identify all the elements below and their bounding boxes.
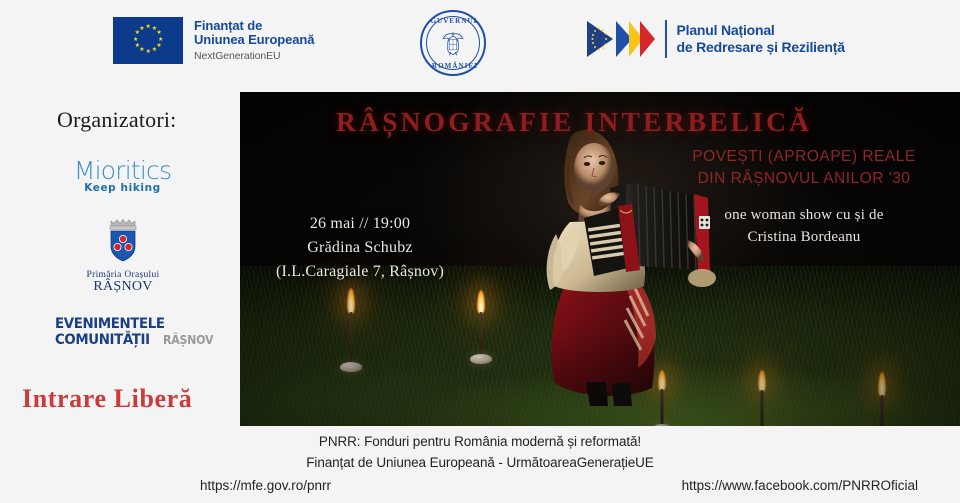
pnrr-logo: Planul Național de Redresare și Rezilien…: [585, 17, 845, 61]
poster-credit-line1: one woman show cu și de: [654, 204, 954, 226]
pnrr-text-line1: Planul Național: [677, 22, 845, 39]
event-address: (I.L.Caragiale 7, Râșnov): [250, 260, 470, 284]
candle-5: [868, 372, 896, 426]
eu-star-icon: [135, 44, 139, 48]
pnrr-footer: PNRR: Fonduri pentru România modernă și …: [0, 426, 960, 503]
logo-mioritics: Mioritics Keep hiking: [60, 156, 185, 194]
logo-primaria-rasnov: Primăria Orașului RÂȘNOV: [62, 216, 184, 295]
evenimente-line3: RÂȘNOV: [163, 333, 213, 347]
evenimente-line2: COMUNITĂȚII: [55, 332, 150, 348]
footer-line2: Finanțat de Uniunea Europeană - Următoar…: [0, 455, 960, 470]
seal-bottom-text: ROMÂNIEI: [422, 62, 488, 70]
eu-star-icon: [156, 31, 160, 35]
eu-star-icon: [158, 38, 162, 42]
poster-event-info: 26 mai // 19:00 Grădina Schubz (I.L.Cara…: [250, 212, 470, 284]
evenimente-line1: EVENIMENTELE: [55, 316, 193, 332]
candle-flame-icon: [758, 370, 766, 392]
free-admission-label: Intrare Liberă: [22, 384, 192, 414]
candle-flame-icon: [347, 288, 355, 314]
eu-star-icon: [139, 48, 143, 52]
candle-flame-icon: [477, 290, 485, 314]
pnrr-arrows-icon: [585, 17, 661, 61]
eu-text-line1: Finanțat de: [194, 19, 314, 34]
eu-star-icon: [135, 31, 139, 35]
eu-star-icon: [133, 38, 137, 42]
eu-star-icon: [146, 25, 150, 29]
poster-credit-line2: Cristina Bordeanu: [654, 226, 954, 248]
poster-subtitle: POVEȘTI (APROAPE) REALE DIN RÂȘNOVUL ANI…: [654, 146, 954, 190]
pnrr-divider: [665, 20, 667, 58]
seal-ring: GUVERNUL ROMÂNIEI: [420, 10, 486, 76]
eu-star-icon: [146, 50, 150, 54]
logo-evenimentele-comunitatii: EVENIMENTELE COMUNITĂȚII RÂȘNOV: [55, 316, 205, 348]
eu-logo-text: Finanțat de Uniunea Europeană NextGenera…: [194, 19, 314, 63]
eu-flag-icon: [113, 17, 183, 64]
romanian-government-seal: GUVERNUL ROMÂNIEI: [420, 10, 486, 76]
candle-base: [340, 362, 362, 372]
poster-credit: one woman show cu și de Cristina Bordean…: [654, 204, 954, 248]
pnrr-text-line2: de Redresare și Reziliență: [677, 39, 845, 56]
footer-link-mfe[interactable]: https://mfe.gov.ro/pnrr: [200, 478, 331, 493]
crown: [110, 220, 136, 230]
eu-star-icon: [152, 27, 156, 31]
candle-stick: [881, 395, 884, 426]
candle-stick: [350, 312, 353, 364]
eagle-crest-icon: [438, 27, 468, 57]
poster-subtitle-line1: POVEȘTI (APROAPE) REALE: [654, 146, 954, 168]
footer-line1: PNRR: Fonduri pentru România modernă și …: [0, 434, 960, 449]
event-datetime: 26 mai // 19:00: [250, 212, 470, 236]
footer-link-facebook[interactable]: https://www.facebook.com/PNRROficial: [682, 478, 918, 493]
event-poster-image: RÂȘNOGRAFIE INTERBELICĂ POVEȘTI (APROAPE…: [240, 92, 960, 426]
candle-2: [468, 290, 494, 368]
rasnov-coat-of-arms-icon: [103, 216, 143, 263]
event-venue: Grădina Schubz: [250, 236, 470, 260]
eu-text-line2: Uniunea Europeană: [194, 33, 314, 48]
eu-star-icon: [139, 27, 143, 31]
candle-flame-icon: [878, 372, 886, 397]
eu-text-line3: NextGenerationEU: [194, 51, 314, 63]
seal-top-text: GUVERNUL: [422, 17, 488, 25]
funding-header: Finanțat de Uniunea Europeană NextGenera…: [0, 0, 960, 88]
candle-stick: [761, 390, 764, 426]
candle-4: [750, 370, 774, 426]
evenimente-row2: COMUNITĂȚII RÂȘNOV: [55, 332, 205, 348]
poster-subtitle-line2: DIN RÂȘNOVUL ANILOR '30: [654, 168, 954, 190]
candle-stick: [480, 312, 483, 356]
primaria-line2: RÂȘNOV: [62, 279, 184, 295]
candle-1: [338, 288, 364, 374]
organizers-sidebar: Organizatori: Mioritics Keep hiking Prim…: [0, 88, 240, 426]
candle-base: [470, 354, 492, 364]
pnrr-logo-text: Planul Național de Redresare și Rezilien…: [677, 22, 845, 56]
organizers-heading: Organizatori:: [57, 107, 177, 133]
eu-funding-logo: Finanțat de Uniunea Europeană NextGenera…: [113, 17, 314, 64]
mioritics-name: Mioritics: [60, 156, 185, 185]
eu-star-icon: [152, 48, 156, 52]
poster-page: Finanțat de Uniunea Europeană NextGenera…: [0, 0, 960, 503]
poster-title: RÂȘNOGRAFIE INTERBELICĂ: [336, 106, 812, 138]
